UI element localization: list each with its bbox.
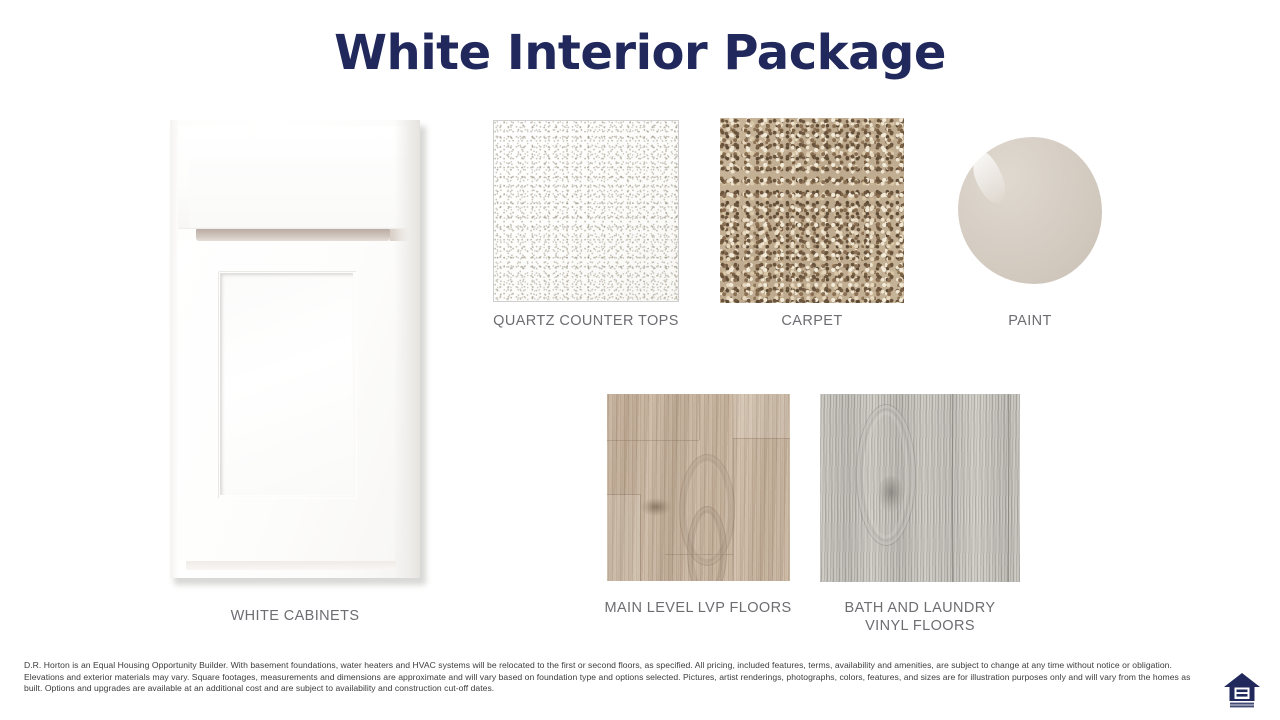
swatch-carpet[interactable] — [720, 118, 904, 303]
cabinet-image — [170, 120, 420, 578]
vinyl-seam — [1008, 394, 1009, 582]
paint-highlight — [967, 148, 1011, 208]
caption-white-cabinets: WHITE CABINETS — [170, 607, 420, 625]
cabinet-door-face — [178, 241, 394, 561]
swatch-bath-laundry-vinyl[interactable] — [820, 394, 1020, 582]
cabinet-drawer-inner — [189, 156, 410, 227]
lvp-plank-highlight — [607, 495, 640, 581]
lvp-seam — [607, 440, 699, 441]
caption-main-level-lvp: MAIN LEVEL LVP FLOORS — [600, 599, 796, 617]
cabinet-right-edge — [394, 120, 420, 578]
lvp-seam — [733, 438, 790, 439]
caption-bath-laundry-vinyl: BATH AND LAUNDRY VINYL FLOORS — [822, 599, 1018, 635]
swatch-quartz-counter-tops[interactable] — [493, 120, 679, 302]
caption-quartz-counter-tops: QUARTZ COUNTER TOPS — [493, 312, 679, 330]
cabinet-drawer-face — [178, 126, 412, 229]
legal-disclaimer: D.R. Horton is an Equal Housing Opportun… — [24, 660, 1202, 695]
lvp-knot — [641, 498, 671, 516]
vinyl-seam — [952, 394, 953, 582]
equal-housing-opportunity-icon — [1221, 668, 1263, 710]
caption-paint: PAINT — [938, 312, 1122, 330]
lvp-plank-highlight — [734, 394, 790, 438]
page-title: White Interior Package — [0, 26, 1280, 81]
cabinet-drawer-gap — [196, 229, 390, 241]
cabinet-bottom-strip — [186, 561, 396, 570]
vinyl-knot — [878, 476, 904, 512]
swatch-paint[interactable] — [958, 137, 1102, 284]
swatch-white-cabinets[interactable] — [170, 120, 426, 585]
caption-carpet: CARPET — [720, 312, 904, 330]
cabinet-door-panel — [220, 273, 353, 495]
swatch-main-level-lvp[interactable] — [607, 394, 790, 581]
vinyl-grain-arc — [856, 404, 916, 546]
lvp-seam — [699, 394, 700, 440]
